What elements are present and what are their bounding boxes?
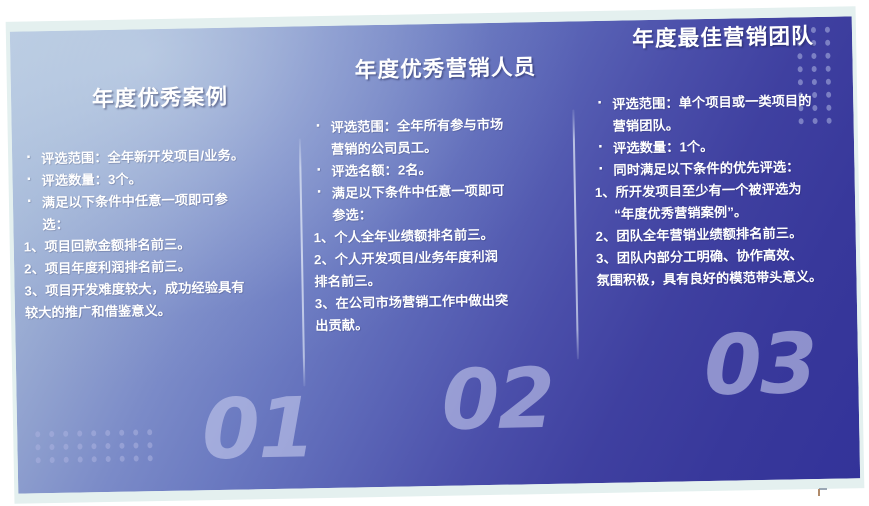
- dot: [78, 456, 83, 462]
- dot: [64, 457, 69, 463]
- corner-mark-horizontal: [819, 488, 827, 490]
- corner-mark-vertical: [818, 489, 820, 496]
- dot: [147, 442, 152, 448]
- column-title-3: 年度最佳营销团队: [592, 18, 855, 54]
- ghost-number-01: 01: [201, 386, 314, 471]
- dot: [120, 456, 125, 462]
- slide-canvas: 01 02 03: [0, 0, 869, 506]
- dot-grid-bottom-left: [35, 429, 153, 463]
- dot: [77, 430, 82, 436]
- award-column-2: 年度优秀营销人员 评选范围：全年所有参与市场营销的公司员工。评选名额：2名。满足…: [310, 49, 583, 337]
- column-body-1: 评选范围：全年新开发项目/业务。评选数量：3个。满足以下条件中任意一项即可参选：…: [22, 144, 297, 325]
- slide-content: 01 02 03: [10, 16, 860, 493]
- slide-background: 01 02 03: [10, 16, 860, 493]
- column-body-2: 评选范围：全年所有参与市场营销的公司员工。评选名额：2名。满足以下条件中任意一项…: [311, 112, 583, 337]
- corner-resize-handle-icon[interactable]: [818, 488, 827, 497]
- dot: [133, 429, 138, 435]
- ghost-number-03: 03: [703, 322, 816, 407]
- dot: [119, 430, 124, 436]
- dot: [91, 443, 96, 449]
- column-body-3: 评选范围：单个项目或一类项目的营销团队。评选数量：1个。同时满足以下条件的优先评…: [593, 89, 859, 292]
- slide-frame: 01 02 03: [10, 16, 860, 493]
- dot: [91, 430, 96, 436]
- column-title-2: 年度优秀营销人员: [310, 49, 579, 85]
- dot: [147, 429, 152, 435]
- ghost-number-02: 02: [441, 357, 554, 442]
- dot: [49, 444, 54, 450]
- dot: [35, 431, 40, 437]
- dot: [63, 431, 68, 437]
- dot: [50, 457, 55, 463]
- dot: [77, 443, 82, 449]
- dot: [134, 455, 139, 461]
- bullet-line: 较大的推广和借鉴意义。: [25, 298, 297, 325]
- bullet-line: 出贡献。: [315, 310, 583, 337]
- award-column-1: 年度优秀案例 评选范围：全年新开发项目/业务。评选数量：3个。满足以下条件中任意…: [21, 79, 297, 325]
- dot: [35, 444, 40, 450]
- dot: [148, 455, 153, 461]
- column-title-1: 年度优秀案例: [21, 79, 294, 115]
- dot: [106, 456, 111, 462]
- dot: [92, 456, 97, 462]
- dot: [49, 431, 54, 437]
- award-column-3: 年度最佳营销团队 评选范围：单个项目或一类项目的营销团队。评选数量：1个。同时满…: [592, 18, 859, 292]
- dot: [133, 442, 138, 448]
- dot: [63, 444, 68, 450]
- dot: [105, 430, 110, 436]
- column-divider-1: [299, 138, 306, 386]
- dot: [36, 457, 41, 463]
- bullet-line: 氛围积极，具有良好的模范带头意义。: [596, 265, 858, 292]
- dot: [119, 443, 124, 449]
- dot: [105, 443, 110, 449]
